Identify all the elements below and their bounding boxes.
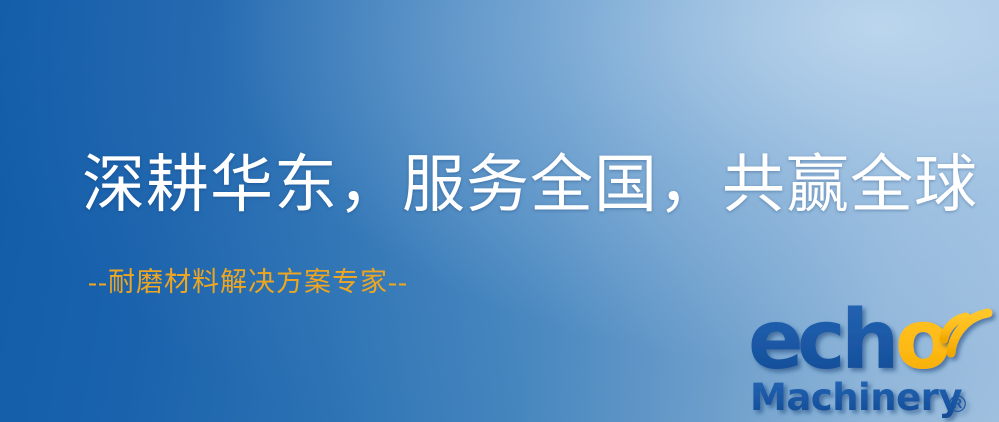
logo-tagline-glyphs: Machinery <box>750 376 962 419</box>
logo-graphic: e c h o Machinery ® <box>748 296 999 422</box>
promotional-banner: 深耕华东，服务全国，共赢全球 --耐磨材料解决方案专家-- echo Machi… <box>0 0 999 422</box>
logo-letter-e: e <box>748 296 804 388</box>
logo-letter-h: h <box>841 296 899 388</box>
banner-headline: 深耕华东，服务全国，共赢全球 <box>82 152 978 218</box>
company-logo[interactable]: echo Machinery e <box>748 296 999 422</box>
banner-subtitle: --耐磨材料解决方案专家-- <box>88 266 408 298</box>
registered-trademark-icon: ® <box>946 392 969 418</box>
logo-letter-c: c <box>797 296 846 388</box>
